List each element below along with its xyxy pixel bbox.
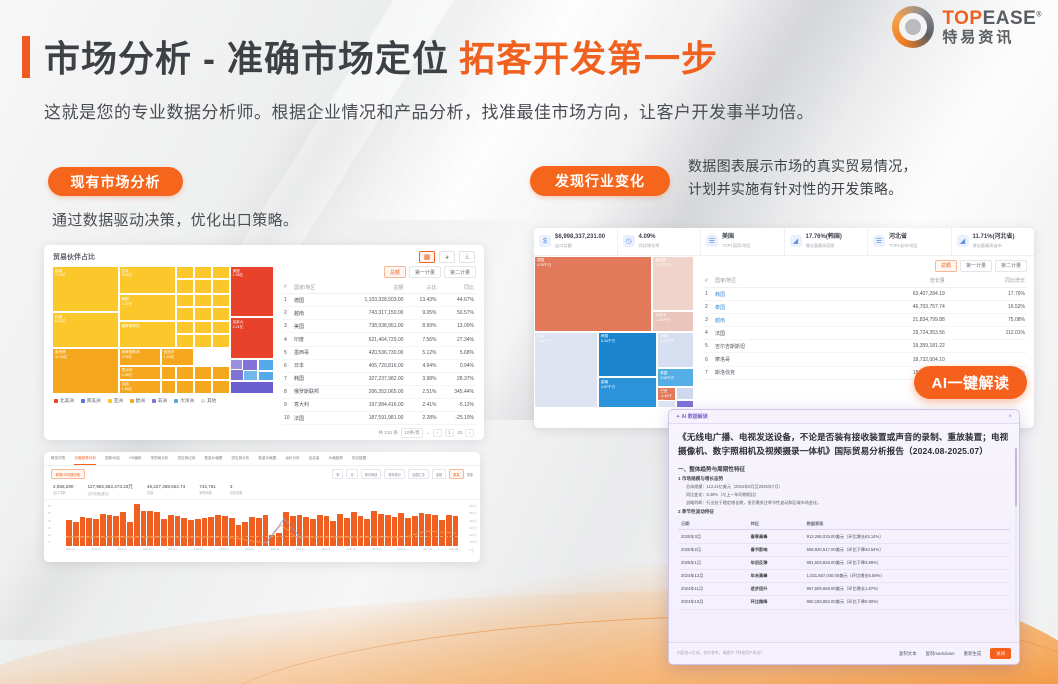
kpi-card[interactable]: ◷4.09%同比增长率 [618,228,702,255]
cell-share: 4.94% [405,359,438,372]
table-row[interactable]: 5吉尔吉斯斯坦19,359,181.22 [703,340,1027,353]
cell-yoy: -25.10% [439,412,476,425]
cell-rank: 5 [703,340,713,353]
treemap-cell-small[interactable] [676,387,694,401]
treemap-cell-small[interactable] [176,279,194,294]
treemap-cell[interactable]: 印度6.21亿 [52,312,119,348]
legend-label: 非洲 [158,398,167,404]
stat-label: 采购商数 [199,490,216,495]
dialog-title: ✦ AI 数据解读 [676,413,708,420]
dialog-button[interactable]: 关闭 [990,648,1011,659]
treemap-cell-small[interactable] [212,279,230,294]
legend-swatch [201,399,205,403]
hero-header: 市场分析 - 准确市场定位 拓客开发第一步 这就是您的专业数据分析师。根据企业情… [0,0,1058,142]
ai-interpretation-dialog[interactable]: ✦ AI 数据解读 × 《无线电广播、电视发送设备，不论是否装有接收装置或声音的… [668,409,1020,665]
treemap-cell-name: 俄罗斯联邦 [122,324,174,329]
treemap-cell[interactable]: 墨西哥-1.13千万 [652,256,694,311]
x-tick: 2024-02 [66,548,75,551]
axis-tick: 300 亿 [469,525,477,532]
legend-label: 大洋洲 [180,398,194,404]
cell-country: 法国 [713,327,827,340]
amount-tab[interactable]: 第一计量 [409,266,441,278]
panel-tab[interactable]: 月度趋势分析 [74,456,96,465]
cell-yoy: 50.57% [439,307,476,320]
treemap-cell-small[interactable] [243,370,259,382]
amount-tab[interactable]: 第二计量 [444,266,476,278]
chart-control[interactable]: 金额 [432,469,446,479]
treemap-cell-value: 3.27亿 [122,302,174,307]
cell-rank: 2 [703,301,713,314]
treemap-cell[interactable]: 德国4.29千万 [534,256,652,332]
grid-icon[interactable]: ▦ [419,251,435,263]
logo-cn-text: 特易资讯 [942,30,1042,46]
report-sub-2: 2 季节性波动特征 [678,509,1010,515]
download-icon[interactable]: ⤓ [459,251,475,263]
y-axis-left: 50403020100 [48,503,51,547]
cell-date: 2024年10月 [678,596,748,609]
cell-feature: 逐步回升 [748,583,804,596]
table-row[interactable]: 7韩国327,237,982.003.98%28.37% [282,372,476,385]
legend-swatch [108,399,112,403]
table-row: 2024年11月逐步回升967,509,669.00美元（环比增长1.87%） [678,583,1010,596]
cell-detail: 967,509,669.00美元（环比增长1.87%） [804,583,1010,596]
chart-control[interactable]: 数量 [449,469,463,479]
cell-growth: 29,724,353.56 [827,327,947,340]
table-row: 2024年10月环比微降950,183,852.00美元（环比下降0.90%） [678,596,1010,609]
amount-tab[interactable]: 总额 [935,260,957,272]
column-header: 同比 [439,281,476,294]
chart-control[interactable]: 按月筛选 [361,469,382,479]
x-tick: 2027-03 [423,548,432,551]
chart-controls[interactable]: 年月按月筛选按年统计全国汇总金额数量重量 [332,469,473,479]
brand-logo: TOPEASE® 特易资讯 [892,6,1042,48]
axis-tick: 50 [48,503,51,510]
panel-tab[interactable]: HS编码 [129,456,141,465]
scrollbar-thumb[interactable] [1015,448,1018,506]
logo-icon [892,6,934,48]
treemap-cell[interactable]: 韩国6.34千万 [598,332,657,378]
x-tick: 2026-12 [398,548,407,551]
clock-icon: ◷ [623,235,635,247]
title-accent-text: 拓客开发第一步 [459,30,718,82]
x-tick: 2024-12 [168,548,177,551]
dollar-icon: $ [539,235,551,247]
cell-share: 8.99% [405,320,438,333]
table-row[interactable]: 6摩洛哥18,732,004.10 [703,353,1027,366]
table-row[interactable]: 3美国738,938,951.008.99%13.00% [282,320,476,333]
treemap-cell-small[interactable] [212,321,230,334]
treemap-cell-small[interactable] [176,334,194,348]
treemap-cell[interactable]: 日本4.06亿 [119,266,177,294]
legend-swatch [174,399,178,403]
title-accent-bar [22,36,30,78]
cell-country: 吉尔吉斯斯坦 [713,340,827,353]
table-row: 2025年2月春节影响559,820,517.00美元（环比下降43.54%） [678,543,1010,556]
kpi-label: TOP1省市/地区 [889,243,918,249]
kpi-card[interactable]: $$6,998,337,231.00出口总额 [534,228,618,255]
legend-item: 欧洲 [130,398,145,404]
cell-rank: 6 [703,353,713,366]
table-row[interactable]: 4印度621,464,729.007.56%27.34% [282,333,476,346]
dialog-button[interactable]: 复制markdown [926,651,955,657]
amount-tab[interactable]: 第一计量 [960,260,992,272]
amount-tab[interactable]: 第二计量 [995,260,1027,272]
monthly-trend-panel: 概览详表月度趋势分析国家/地区HS编码采购商分析供应商应用数量价格图供应商分析数… [44,452,480,562]
caption-right-line2: 计划并实施有针对性的开发策略。 [688,178,917,201]
x-tick: 2024-04 [92,548,101,551]
legend-label: 其他 [207,398,216,404]
page-size-select[interactable]: 10条/页 [401,428,424,437]
cell-share: 3.98% [405,372,438,385]
table-row[interactable]: 1德国1,103,328,503.0013.43%44.67% [282,294,476,307]
cell-rank: 5 [282,346,292,359]
legend-label: 欧洲 [136,398,145,404]
treemap-cell[interactable]: 墨西哥11.03亿 [52,348,119,394]
legend-swatch [81,399,85,403]
cell-yoy: 13.00% [439,320,476,333]
table-row[interactable]: 8俄罗斯联邦206,352,065.002.51%345.44% [282,385,476,398]
panel-tab[interactable]: 概览详表 [51,456,65,465]
panel-tab[interactable]: 价格趋势 [329,456,343,465]
kpi-text: $6,998,337,231.00出口总额 [555,234,605,249]
table-row[interactable]: 2越南743,317,150.009.05%50.57% [282,307,476,320]
treemap-cell[interactable]: 法国1.88亿 [119,380,161,394]
treemap-cell-small[interactable] [194,366,212,380]
cell-country: 美国 [292,320,338,333]
panel-tab[interactable]: 供应链图 [352,456,366,465]
legend-item: 其他 [201,398,216,404]
report-section-1: 一、整体趋势与周期性特征 [678,465,1010,473]
x-tick: 2025-12 [296,548,305,551]
chart-control[interactable]: 月 [346,469,357,479]
table-row[interactable]: 3越南31,834,799.8875.08% [703,314,1027,327]
treemap-cell-small[interactable] [212,307,230,321]
legend-item: 大洋洲 [174,398,194,404]
column-header: 增长量 [827,275,947,288]
dialog-button[interactable]: 复制文本 [899,651,917,657]
report-bullet: 战略判断：行业处于稳定增长期，但仍需关注季节性波动和区域市场变化。 [678,500,1010,506]
stat-label: 供应商数 [230,490,243,495]
treemap-cell[interactable]: 俄罗斯联邦 [119,321,177,348]
treemap-cell[interactable]: 越南7.43亿 [52,266,119,312]
kpi-card[interactable]: ◢17.76%(韩国)增长量最高国家 [785,228,869,255]
cell-detail: 913,286,025.00美元（环比增长63.14%） [804,530,1010,543]
treemap-cell[interactable]: 加拿大4.21亿 [230,317,274,359]
caption-right-line1: 数据图表展示市场的真实贸易情况， [688,155,917,178]
panel-tab[interactable]: 供应商分析 [231,456,249,465]
cell-country: 意大利 [292,398,338,411]
kpi-card[interactable]: ☰美国TOP1国家/地区 [701,228,785,255]
bar-chart[interactable]: 50403020100 600 亿500 亿400 亿300 亿200 亿100… [44,500,480,556]
cell-feature: 年末高峰 [748,570,804,583]
treemap-cell-value: 1.98亿 [122,373,158,378]
pie-icon[interactable]: ◕ [439,251,455,263]
treemap-cell-small[interactable] [676,400,694,408]
stat-item: 127,982,583,473.23元出口总额(美元) [87,484,132,496]
treemap-cell-small[interactable] [194,307,212,321]
cell-total: 206,352,065.00 [338,385,406,398]
table-row[interactable]: 5墨西哥420,536,730.005.12%5.68% [282,346,476,359]
cell-yoy: 16.52% [947,301,1027,314]
logo-ease-text: EASE [983,8,1037,29]
cell-detail: 559,820,517.00美元（环比下降43.54%） [804,543,1010,556]
cell-share: 9.05% [405,307,438,320]
legend-item: 非洲 [152,398,167,404]
list-icon: ☰ [706,235,718,247]
cell-yoy [947,340,1027,353]
pill-industry-change[interactable]: 发现行业变化 [530,166,670,196]
report-bullets: 总体规模：113.24亿美元（2024年8月至2025年7月）同比变化：8.38… [678,484,1010,506]
cell-yoy: -5.12% [439,398,476,411]
legend-label: 北美洲 [60,398,74,404]
ai-interpret-button[interactable]: AI一键解读 [914,366,1027,399]
cell-date: 2025年1月 [678,556,748,569]
panel-tabs[interactable]: 概览详表月度趋势分析国家/地区HS编码采购商分析供应商应用数量价格图供应商分析数… [44,452,480,466]
treemap-cell-small[interactable] [258,359,274,371]
treemap-cell-small[interactable] [194,279,212,294]
treemap-cell-value: 7.43亿 [55,273,116,278]
treemap-cell-small[interactable] [161,366,177,380]
treemap-cell-small[interactable] [657,400,676,408]
x-tick: 2025-10 [270,548,279,551]
chevron-down-icon[interactable]: ⌄ [426,430,430,436]
treemap-cell-small[interactable] [194,334,212,348]
cell-date: 2025年3月 [678,530,748,543]
treemap-cell-small[interactable] [176,321,194,334]
panel-tab[interactable]: 采购商分析 [151,456,169,465]
axis-tick: 100 亿 [469,539,477,546]
page-title: 市场分析 - 准确市场定位 拓客开发第一步 [22,30,718,82]
table-row[interactable]: 2泰国46,703,757.7416.52% [703,301,1027,314]
cell-country: 韩国 [292,372,338,385]
treemap-cell-small[interactable] [176,294,194,307]
chart-control[interactable]: 年 [332,469,343,479]
dialog-actions[interactable]: 复制文本复制markdown重新生成关闭 [899,648,1011,659]
cell-detail: 991,503,826.00美元（环比下降3.89%） [804,556,1010,569]
treemap-cell-small[interactable] [194,380,212,394]
cell-total: 420,536,730.00 [338,346,406,359]
cell-yoy: 28.37% [439,372,476,385]
kpi-value: 11.71%(河北省) [973,234,1015,242]
treemap-cell-value: 4.67千万 [601,385,654,390]
pagination[interactable]: 共 213 条 10条/页 ⌄ ‹ 1 22 › [282,425,476,437]
chart-control[interactable]: 全国汇总 [408,469,429,479]
axis-tick: 400 亿 [469,518,477,525]
current-page[interactable]: 1 [445,429,455,437]
scrollbar-track[interactable] [1015,448,1018,626]
x-tick: 2024-07 [117,548,126,551]
chart-control[interactable]: 按年统计 [384,469,405,479]
chart-control[interactable]: 重量 [467,472,473,477]
cell-country[interactable]: 越南 [713,314,827,327]
treemap-cell[interactable]: 阿联酋联邦2.06亿 [119,348,161,366]
column-header: # [703,275,713,288]
cell-country: 印度 [292,333,338,346]
slide-root: 市场分析 - 准确市场定位 拓客开发第一步 这就是您的专业数据分析师。根据企业情… [0,0,1058,684]
spark-line [66,503,456,545]
cell-detail: 950,183,852.00美元（环比下降0.90%） [804,596,1010,609]
table-body: 1德国1,103,328,503.0013.43%44.67%2越南743,31… [282,294,476,425]
cell-yoy: 345.44% [439,385,476,398]
page-subtitle: 这就是您的专业数据分析师。根据企业情况和产品分析，找准最佳市场方向，让客户开发事… [44,98,814,123]
cell-yoy: 0.94% [439,359,476,372]
cell-country: 斯洛伐克 [713,366,827,379]
prev-page-button[interactable]: ‹ [433,429,442,437]
treemap-cell-value: 6.21亿 [55,319,116,324]
kpi-card[interactable]: ◢11.71%(河北省)增长量最高省市 [952,228,1035,255]
treemap-cell-small[interactable] [176,366,194,380]
dialog-body: 《无线电广播、电视发送设备，不论是否装有接收装置或声音的录制、重放装置；电视摄像… [669,424,1019,634]
column-header: 总额 [338,281,406,294]
treemap-cell-small[interactable] [194,294,212,307]
panel-tab[interactable]: 供应商应用 [177,456,195,465]
kpi-label: 增长量最高国家 [806,243,842,249]
list-icon: ☰ [873,235,885,247]
treemap-cell-small[interactable] [212,266,230,279]
ranking-table-wrap: 总额第一计量第二计量 #国家/地区总额占比同比 1德国1,103,328,503… [274,266,476,438]
legend-item: 北美洲 [54,398,74,404]
legend-swatch [54,399,58,403]
treemap-left[interactable]: 越南7.43亿印度6.21亿日本4.06亿韩国3.27亿俄罗斯联邦墨西哥11.0… [52,266,274,394]
panel-title: 贸易伙伴占比 [53,252,95,262]
treemap-cell-value: 1.44千万 [660,339,691,344]
treemap-legend: 北美洲南美洲亚洲欧洲非洲大洋洲其他 [52,398,274,404]
amount-tabs[interactable]: 总额第一计量第二计量 [703,260,1027,272]
treemap-cell-small[interactable] [176,380,194,394]
panel-tab[interactable]: 数量价格图 [258,456,276,465]
panel-subbar: 单笔HS月度分析 年月按月筛选按年统计全国汇总金额数量重量 [44,466,480,482]
table-header-row: #国家/地区总额占比同比 [282,281,476,294]
x-tick: 2027-06 [449,548,458,551]
cell-total: 405,720,816.00 [338,359,406,372]
cell-share: 5.12% [405,346,438,359]
treemap-cell[interactable]: 西班牙1.55亿 [161,348,194,366]
caption-right: 数据图表展示市场的真实贸易情况， 计划并实施有针对性的开发策略。 [688,155,917,201]
y-axis-right: 600 亿500 亿400 亿300 亿200 亿100 亿0 亿 [469,503,477,554]
table-row[interactable]: 6日本405,720,816.004.94%0.94% [282,359,476,372]
treemap-cell[interactable]: 泰国3.58千万 [657,368,694,386]
dialog-button[interactable]: 重新生成 [964,651,982,657]
table-row[interactable]: 1韩国63,407,284.1917.76% [703,287,1027,300]
cell-date: 2025年2月 [678,543,748,556]
treemap-cell-small[interactable] [161,380,177,394]
cell-rank: 2 [282,307,292,320]
growth-table: #国家/地区增长量同比增长 1韩国63,407,284.1917.76%2泰国4… [703,275,1027,380]
kpi-value: 河北省 [889,234,918,242]
x-tick: 2025-04 [219,548,228,551]
panel-tab[interactable]: 国家/地区 [105,456,120,465]
treemap-cell-small[interactable] [212,380,230,394]
cell-growth: 46,703,757.74 [827,301,947,314]
stat-value: 3 [230,484,243,489]
cell-yoy: 5.68% [439,346,476,359]
treemap-cell[interactable]: 印度1.44千万 [657,332,694,368]
cell-country: 德国 [292,294,338,307]
amount-tab[interactable]: 总额 [384,266,406,278]
treemap-cell-small[interactable] [212,366,230,380]
panel-tab[interactable]: 数量价格图 [204,456,222,465]
close-icon[interactable]: × [1008,414,1012,420]
stat-label: 出口次数 [53,490,73,495]
treemap-cell-small[interactable] [194,266,212,279]
title-main-text: 市场分析 - 准确市场定位 [44,30,449,82]
cell-country: 俄罗斯联邦 [292,385,338,398]
treemap-cell-small[interactable] [194,321,212,334]
seasonality-table: 日期特征数据表现 2025年3月春季高峰913,286,025.00美元（环比增… [678,518,1010,609]
table-row[interactable]: 9意大利197,984,416.002.41%-5.12% [282,398,476,411]
stat-value: 742,761 [199,484,216,489]
table-header-row: 日期特征数据表现 [678,518,1010,530]
table-row[interactable]: 4法国29,724,353.56112.01% [703,327,1027,340]
cell-share: 7.56% [405,333,438,346]
treemap-cell-small[interactable] [176,266,194,279]
cell-feature: 春季高峰 [748,530,804,543]
cell-total: 327,237,982.00 [338,372,406,385]
filter-chip[interactable]: 单笔HS月度分析 [51,469,85,479]
cell-rank: 3 [282,320,292,333]
cell-yoy: 17.76% [947,287,1027,300]
treemap-cell[interactable]: 美国1.96亿 [230,266,274,317]
panel-tab[interactable]: 运价分析 [285,456,299,465]
cell-country[interactable]: 韩国 [713,287,827,300]
stat-value: 2,558,280 [53,484,73,489]
kpi-label: 出口总额 [555,243,605,249]
cell-share: 2.41% [405,398,438,411]
cell-growth: 31,834,799.88 [827,314,947,327]
treemap-cell-value: 6.34千万 [601,339,654,344]
treemap-cell-small[interactable] [258,371,274,381]
amount-tabs[interactable]: 总额第一计量第二计量 [282,266,476,278]
panel-header: 贸易伙伴占比 ▦ ◕ ⤓ [44,245,484,266]
treemap-cell[interactable]: 日本1.44千万 [534,332,598,408]
table-row[interactable]: 10法国187,591,981.002.28%-25.10% [282,412,476,425]
treemap-cell[interactable]: 加拿大-2.36千万 [652,311,694,332]
kpi-text: 17.76%(韩国)增长量最高国家 [806,234,842,249]
x-axis: 2024-022024-042024-072024-102024-122025-… [66,546,458,551]
treemap-cell[interactable]: 意大利1.98亿 [119,366,161,380]
column-header: 国家/地区 [713,275,827,288]
treemap-cell-value: 4.06亿 [122,273,174,278]
kpi-label: 同比增长率 [639,243,660,249]
kpi-card[interactable]: ☰河北省TOP1省市/地区 [868,228,952,255]
axis-tick: 500 亿 [469,510,477,517]
ranking-table: #国家/地区总额占比同比 1德国1,103,328,503.0013.43%44… [282,281,476,425]
next-page-button[interactable]: › [465,429,474,437]
treemap-cell-small[interactable] [230,359,243,369]
treemap-cell-small[interactable] [212,294,230,307]
treemap-cell-value: 4.21亿 [233,325,271,330]
pill-existing-market-analysis[interactable]: 现有市场分析 [48,167,183,196]
cell-rank: 7 [703,366,713,379]
axis-tick: 600 亿 [469,503,477,510]
treemap-cell[interactable]: 越南4.67千万 [598,377,657,407]
treemap-right[interactable]: 德国4.29千万墨西哥-1.13千万加拿大-2.36千万日本1.44千万韩国6.… [534,256,694,408]
treemap-cell-value: 1.88亿 [122,387,158,392]
column-header: 特征 [748,518,804,530]
x-tick: 2025-07 [245,548,254,551]
treemap-cell-small[interactable] [176,307,194,321]
cell-country[interactable]: 泰国 [713,301,827,314]
total-count: 共 213 条 [378,430,397,436]
treemap-cell[interactable]: 韩国3.27亿 [119,294,177,321]
panel-tab[interactable]: 品名量 [309,456,320,465]
treemap-cell-small[interactable] [230,381,274,394]
cell-growth: 19,359,181.22 [827,340,947,353]
stat-item: 3供应商数 [230,484,243,496]
dialog-footer: 内容由AI生成，仅作参考，请遵守《特易用户协议》 复制文本复制markdown重… [669,642,1019,664]
cell-growth: 18,732,004.10 [827,353,947,366]
treemap-cell-small[interactable] [212,334,230,348]
